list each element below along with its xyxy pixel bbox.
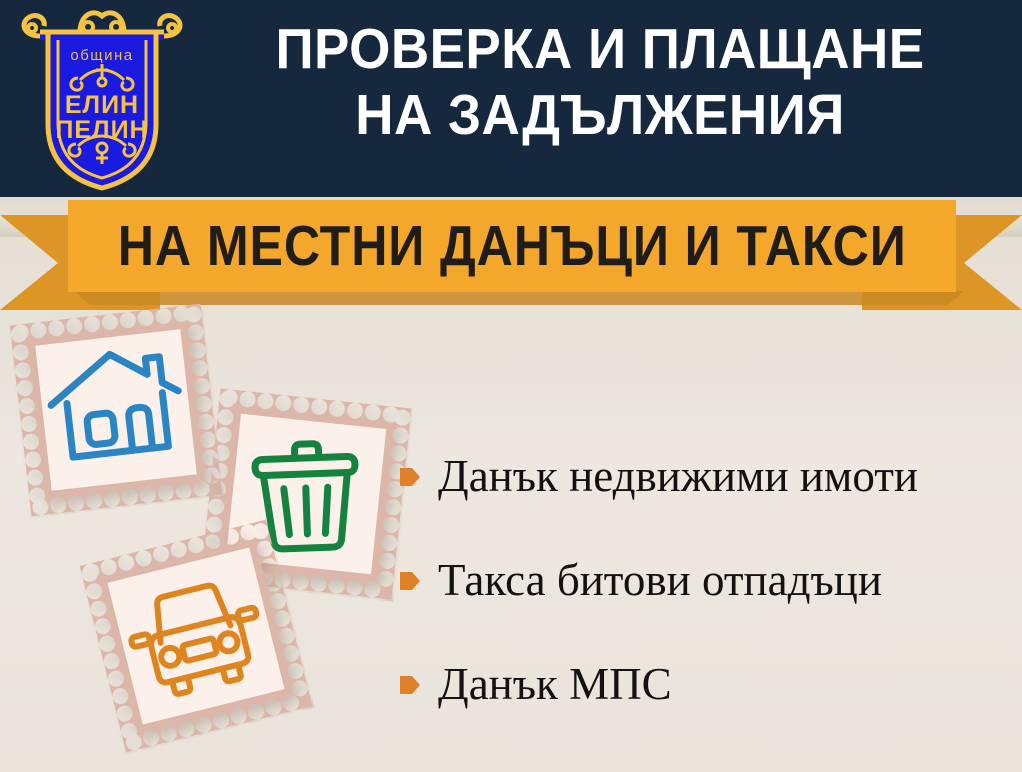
stamp-house xyxy=(8,302,225,519)
logo-top-text: община xyxy=(70,47,133,64)
list-item-label: Такса битови отпадъци xyxy=(438,555,882,605)
page-title-line-1: ПРОВЕРКА И ПЛАЩАНЕ xyxy=(219,16,982,82)
list-item[interactable]: Данък МПС xyxy=(400,632,1014,736)
ribbon-shadow xyxy=(74,291,964,305)
arrow-bullet-icon xyxy=(400,569,420,593)
logo-name-line1: ЕЛИН xyxy=(65,91,139,119)
ribbon-band: НА МЕСТНИ ДАНЪЦИ И ТАКСИ xyxy=(68,200,956,292)
list-item[interactable]: Данък недвижими имоти xyxy=(400,424,1014,528)
header-bar: община ЕЛИН ПЕЛИН ПРОВЕРКА И ПЛАЩАНЕ НА … xyxy=(0,0,1022,197)
header-title-block: ПРОВЕРКА И ПЛАЩАНЕ НА ЗАДЪЛЖЕНИЯ xyxy=(190,16,1010,148)
poster-canvas: община ЕЛИН ПЕЛИН ПРОВЕРКА И ПЛАЩАНЕ НА … xyxy=(0,0,1022,772)
tax-type-list: Данък недвижими имоти Такса битови отпад… xyxy=(400,424,1014,736)
logo-name-line2: ПЕЛИН xyxy=(55,116,148,144)
ribbon-label: НА МЕСТНИ ДАНЪЦИ И ТАКСИ xyxy=(118,216,907,276)
arrow-bullet-icon xyxy=(400,673,420,697)
page-title-line-2: НА ЗАДЪЛЖЕНИЯ xyxy=(219,82,982,148)
municipality-logo: община ЕЛИН ПЕЛИН xyxy=(18,6,186,192)
arrow-bullet-icon xyxy=(400,465,420,489)
list-item[interactable]: Такса битови отпадъци xyxy=(400,528,1014,632)
subtitle-ribbon: НА МЕСТНИ ДАНЪЦИ И ТАКСИ xyxy=(0,196,1022,314)
list-item-label: Данък МПС xyxy=(438,659,672,709)
list-item-label: Данък недвижими имоти xyxy=(438,451,918,501)
